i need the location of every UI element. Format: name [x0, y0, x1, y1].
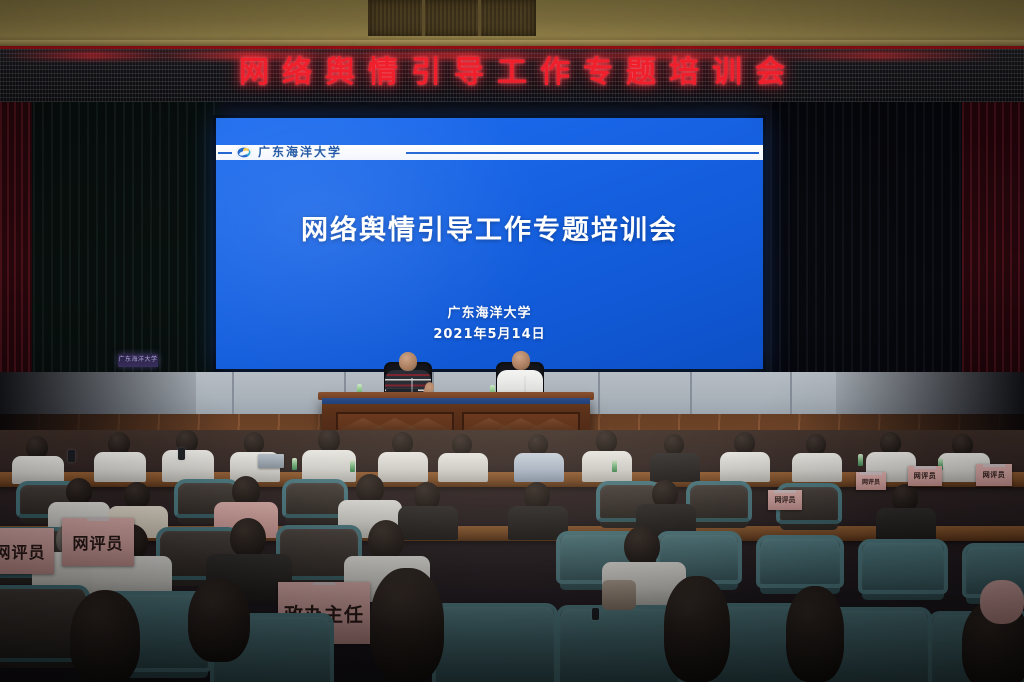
audience-body	[162, 450, 214, 482]
slide-subtitle-date: 2021年5月14日	[216, 323, 763, 342]
seat-sign: 网评员	[856, 472, 886, 490]
audience-body	[94, 452, 146, 482]
audience-water-bottle	[350, 460, 355, 472]
bag	[602, 580, 636, 610]
projection-screen: 广东海洋大学 网络舆情引导工作专题培训会 广东海洋大学 2021年5月14日	[216, 118, 763, 369]
audience-body	[12, 456, 64, 484]
slide-subtitle-organization: 广东海洋大学	[216, 302, 763, 321]
audience-head	[452, 434, 472, 455]
audience-head	[624, 526, 660, 566]
audience-body	[650, 453, 700, 482]
wall-seam	[690, 372, 692, 418]
audience-body	[876, 508, 936, 542]
audience-body	[398, 506, 458, 540]
audience-laptop	[258, 454, 284, 468]
audience-head	[318, 430, 340, 452]
seat	[760, 538, 840, 594]
audience-head	[70, 590, 140, 682]
seat	[690, 484, 748, 528]
audience-head	[244, 432, 264, 454]
slide-header-band: 广东海洋大学	[216, 145, 763, 160]
audience-head	[786, 586, 844, 682]
stage-wall-shadow-right	[836, 372, 1024, 418]
seat	[560, 608, 678, 682]
audience-body	[302, 450, 356, 482]
audience-head	[596, 430, 617, 453]
audience-area: 网评员 网评员 网评员 网评员	[0, 430, 1024, 682]
projection-screen-frame: 广东海洋大学 网络舆情引导工作专题培训会 广东海洋大学 2021年5月14日	[213, 115, 766, 372]
auditorium-photo-scene: 网络舆情引导工作专题培训会 广东海洋大学 广东海洋大学 网络舆情引导工作专题培训…	[0, 0, 1024, 682]
audience-head	[880, 432, 901, 454]
slide-rule-right	[406, 152, 759, 154]
wall-seam	[790, 372, 792, 418]
led-banner-text: 网络舆情引导工作专题培训会	[0, 48, 1024, 98]
university-logo-icon	[236, 146, 252, 159]
slide-title: 网络舆情引导工作专题培训会	[216, 208, 763, 247]
audience-body	[514, 453, 564, 482]
seat	[436, 606, 554, 682]
audience-head	[66, 478, 92, 505]
wall-sign: 广东海洋大学	[118, 354, 158, 367]
audience-head	[188, 578, 250, 662]
audience-phone	[178, 448, 185, 460]
audience-body	[438, 453, 488, 482]
audience-head	[528, 434, 548, 455]
audience-water-bottle	[612, 460, 617, 472]
audience-head	[124, 482, 150, 509]
speaker-head-left	[399, 352, 417, 371]
audience-water-bottle	[858, 454, 863, 466]
seat-sign: 网评员	[976, 464, 1012, 486]
seat-sign: 网评员	[908, 466, 942, 486]
audience-head	[664, 434, 684, 455]
audience-body	[792, 453, 842, 482]
audience-phone	[68, 450, 75, 462]
audience-head	[392, 432, 413, 454]
seat	[286, 482, 344, 524]
wall-seam	[598, 372, 600, 418]
seat	[862, 542, 944, 600]
audience-body	[378, 452, 428, 482]
audience-head	[806, 434, 826, 455]
audience-raised-hand	[980, 580, 1024, 624]
audience-phone	[592, 608, 599, 620]
slide-rule-left	[218, 152, 232, 154]
audience-body	[582, 451, 632, 482]
seat-sign: 网评员	[0, 528, 54, 574]
podium-blue-cloth	[322, 398, 590, 404]
audience-head	[368, 520, 404, 560]
audience-body	[720, 452, 770, 482]
wall-seam	[232, 372, 234, 418]
slide-organization-name: 广东海洋大学	[258, 144, 342, 161]
speaker-head-right	[512, 351, 530, 370]
audience-head	[370, 568, 444, 682]
seat-sign: 网评员	[768, 490, 802, 510]
stage-wall-shadow-left	[0, 372, 196, 418]
audience-head	[734, 432, 755, 454]
audience-head	[230, 518, 266, 558]
ceiling-vent-grille-icon	[368, 0, 536, 38]
audience-water-bottle	[292, 458, 297, 470]
seat-sign: 网评员	[62, 518, 134, 566]
audience-head	[664, 576, 730, 682]
